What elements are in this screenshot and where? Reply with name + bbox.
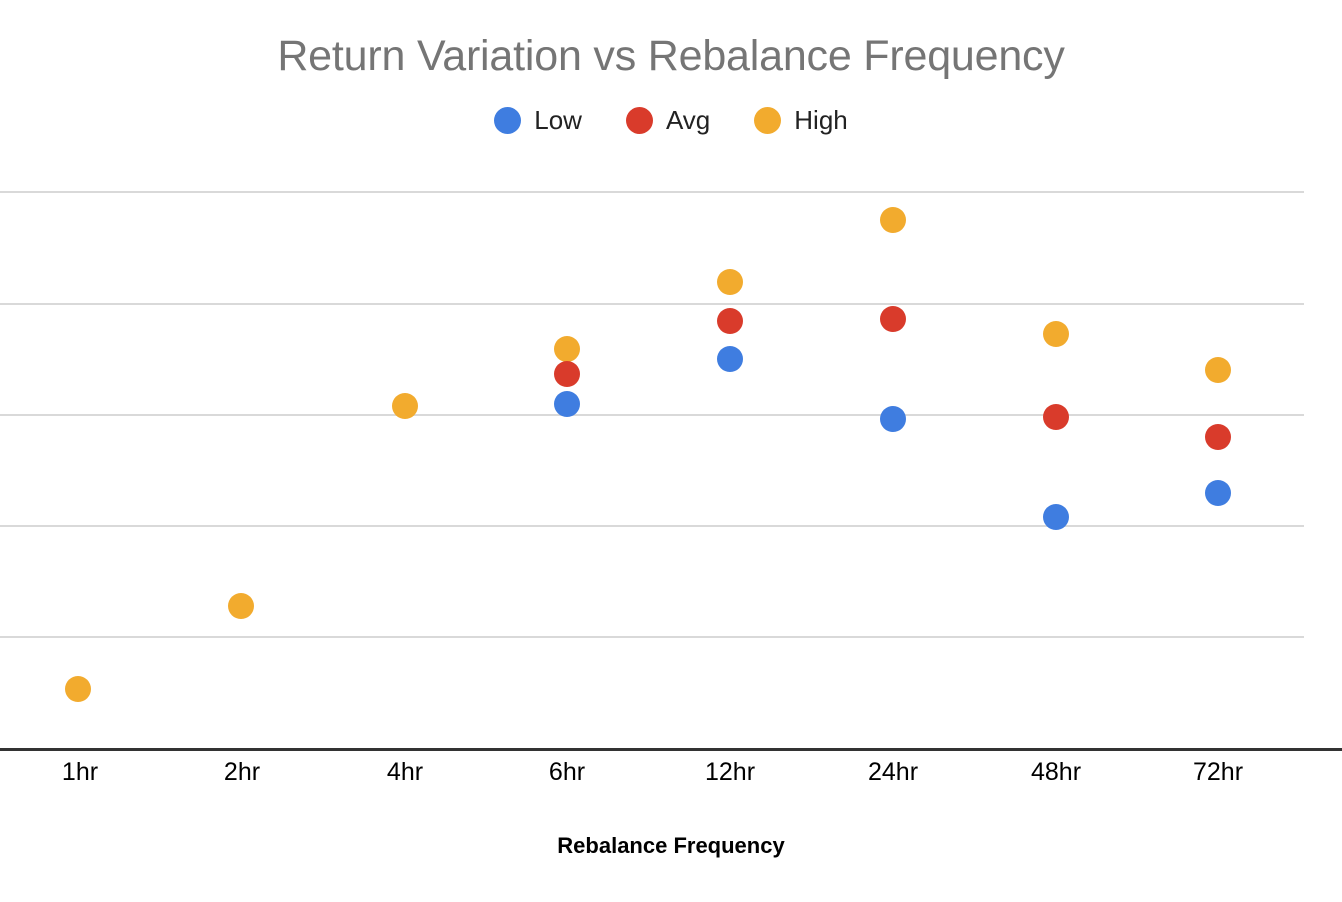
gridline-0 bbox=[0, 191, 1304, 193]
x-tick-label-6hr: 6hr bbox=[549, 758, 585, 787]
data-point-avg-6hr[interactable] bbox=[554, 361, 580, 387]
x-tick-label-1hr: 1hr bbox=[62, 758, 98, 787]
gridline-4 bbox=[0, 636, 1304, 638]
data-point-low-72hr[interactable] bbox=[1205, 480, 1231, 506]
x-tick-label-12hr: 12hr bbox=[705, 758, 755, 787]
data-point-low-24hr[interactable] bbox=[880, 406, 906, 432]
x-axis-line bbox=[0, 748, 1342, 751]
plot-area: 1hr2hr4hr6hr12hr24hr48hr72hr bbox=[0, 0, 1342, 902]
gridline-2 bbox=[0, 414, 1304, 416]
scatter-chart: Return Variation vs Rebalance Frequency … bbox=[0, 0, 1342, 902]
x-tick-label-2hr: 2hr bbox=[224, 758, 260, 787]
data-point-avg-48hr[interactable] bbox=[1043, 404, 1069, 430]
data-point-high-6hr[interactable] bbox=[554, 336, 580, 362]
data-point-avg-72hr[interactable] bbox=[1205, 424, 1231, 450]
data-point-avg-24hr[interactable] bbox=[880, 306, 906, 332]
data-point-high-24hr[interactable] bbox=[880, 207, 906, 233]
x-tick-label-72hr: 72hr bbox=[1193, 758, 1243, 787]
data-point-high-4hr[interactable] bbox=[392, 393, 418, 419]
x-tick-label-4hr: 4hr bbox=[387, 758, 423, 787]
data-point-high-1hr[interactable] bbox=[65, 676, 91, 702]
data-point-low-6hr[interactable] bbox=[554, 391, 580, 417]
data-point-avg-12hr[interactable] bbox=[717, 308, 743, 334]
data-point-low-12hr[interactable] bbox=[717, 346, 743, 372]
data-point-low-48hr[interactable] bbox=[1043, 504, 1069, 530]
x-tick-label-24hr: 24hr bbox=[868, 758, 918, 787]
data-point-high-72hr[interactable] bbox=[1205, 357, 1231, 383]
data-point-high-2hr[interactable] bbox=[228, 593, 254, 619]
x-axis-title: Rebalance Frequency bbox=[0, 833, 1342, 859]
data-point-high-48hr[interactable] bbox=[1043, 321, 1069, 347]
x-tick-label-48hr: 48hr bbox=[1031, 758, 1081, 787]
gridline-1 bbox=[0, 303, 1304, 305]
data-point-high-12hr[interactable] bbox=[717, 269, 743, 295]
gridline-3 bbox=[0, 525, 1304, 527]
